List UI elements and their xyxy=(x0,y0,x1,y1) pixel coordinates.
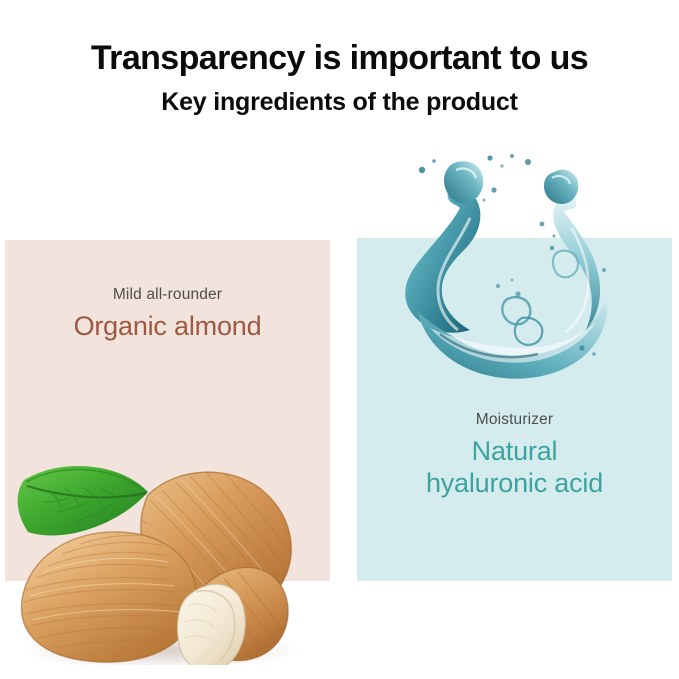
heading-block: Transparency is important to us Key ingr… xyxy=(0,0,679,116)
ingredient-headline-hyaluronic-line2: hyaluronic acid xyxy=(426,468,603,498)
ingredient-label-group-hyaluronic: Moisturizer Natural hyaluronic acid xyxy=(357,411,672,500)
ingredient-label-group-almond: Mild all-rounder Organic almond xyxy=(5,286,330,343)
almond-nut-right xyxy=(192,567,290,665)
ingredient-headline-almond: Organic almond xyxy=(5,311,330,343)
ingredient-headline-hyaluronic: Natural hyaluronic acid xyxy=(357,436,672,500)
ingredient-headline-hyaluronic-line1: Natural xyxy=(472,436,558,466)
ingredient-card-hyaluronic-acid xyxy=(357,238,672,581)
page-title: Transparency is important to us xyxy=(0,0,679,77)
page-subtitle: Key ingredients of the product xyxy=(0,77,679,117)
ingredient-kicker-almond: Mild all-rounder xyxy=(5,286,330,304)
almond-kernel-half xyxy=(177,584,245,665)
almond-shadow xyxy=(20,630,300,665)
ingredient-kicker-hyaluronic: Moisturizer xyxy=(357,411,672,429)
